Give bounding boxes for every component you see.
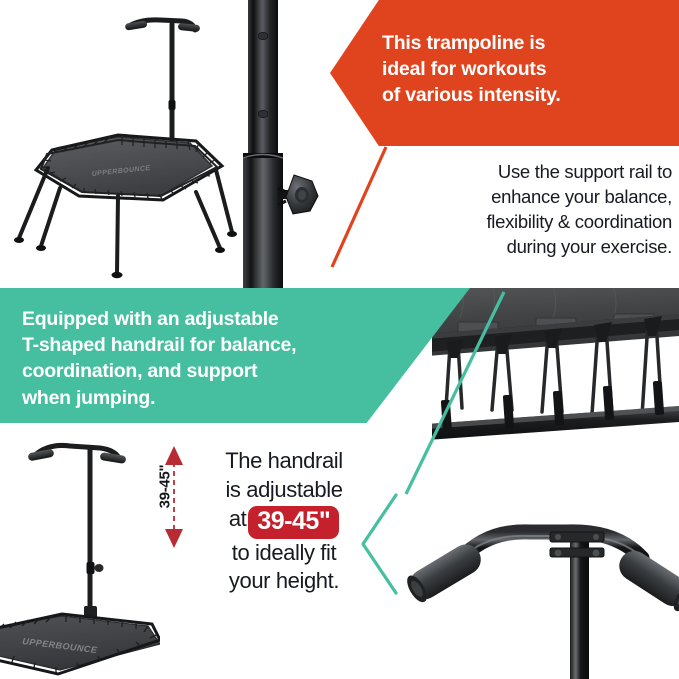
handrail-trampoline-illustration: UPPERBOUNCE	[0, 430, 160, 679]
teal-chevron-left-icon	[358, 492, 400, 596]
orange-heading: This trampoline is ideal for workouts of…	[382, 30, 632, 108]
orange-subtext-line-3: flexibility & coordination	[360, 210, 672, 235]
teal-heading-line-2: T-shaped handrail for balance,	[22, 332, 422, 358]
handrail-grips-illustration	[398, 496, 679, 679]
teal-diagonal-accent	[392, 288, 512, 498]
bottom-line-badge: at39-45"	[188, 505, 380, 539]
orange-subtext-line-4: during your exercise.	[360, 235, 672, 260]
teal-heading-line-1: Equipped with an adjustable	[22, 306, 422, 332]
orange-heading-line-3: of various intensity.	[382, 82, 632, 108]
orange-subtext-line-2: enhance your balance,	[360, 185, 672, 210]
pole-closeup-illustration	[238, 0, 333, 288]
measurement-label: 39-45"	[157, 442, 174, 532]
bottom-line-1: The handrail	[188, 447, 380, 476]
orange-heading-line-1: This trampoline is	[382, 30, 632, 56]
at-word: at	[229, 506, 247, 531]
photo-handrail-grips-closeup	[398, 496, 679, 679]
orange-subtext-line-1: Use the support rail to	[360, 160, 672, 185]
teal-heading-line-4: when jumping.	[22, 385, 422, 411]
bottom-line-4: your height.	[188, 567, 380, 596]
bottom-line-3: to ideally fit	[188, 539, 380, 568]
measurement-badge: 39-45"	[248, 506, 339, 539]
bottom-description: The handrail is adjustable at39-45" to i…	[188, 447, 380, 596]
bottom-line-2: is adjustable	[188, 476, 380, 505]
infographic-page: UPPERBOUNCE	[0, 0, 679, 679]
orange-heading-line-2: ideal for workouts	[382, 56, 632, 82]
orange-subtext: Use the support rail to enhance your bal…	[360, 160, 672, 260]
photo-pole-knob-closeup	[238, 0, 333, 288]
teal-heading-line-3: coordination, and support	[22, 358, 422, 384]
measurement-indicator: 39-45"	[138, 444, 190, 549]
teal-heading: Equipped with an adjustable T-shaped han…	[22, 306, 422, 411]
photo-handrail-on-trampoline: UPPERBOUNCE	[0, 430, 160, 679]
